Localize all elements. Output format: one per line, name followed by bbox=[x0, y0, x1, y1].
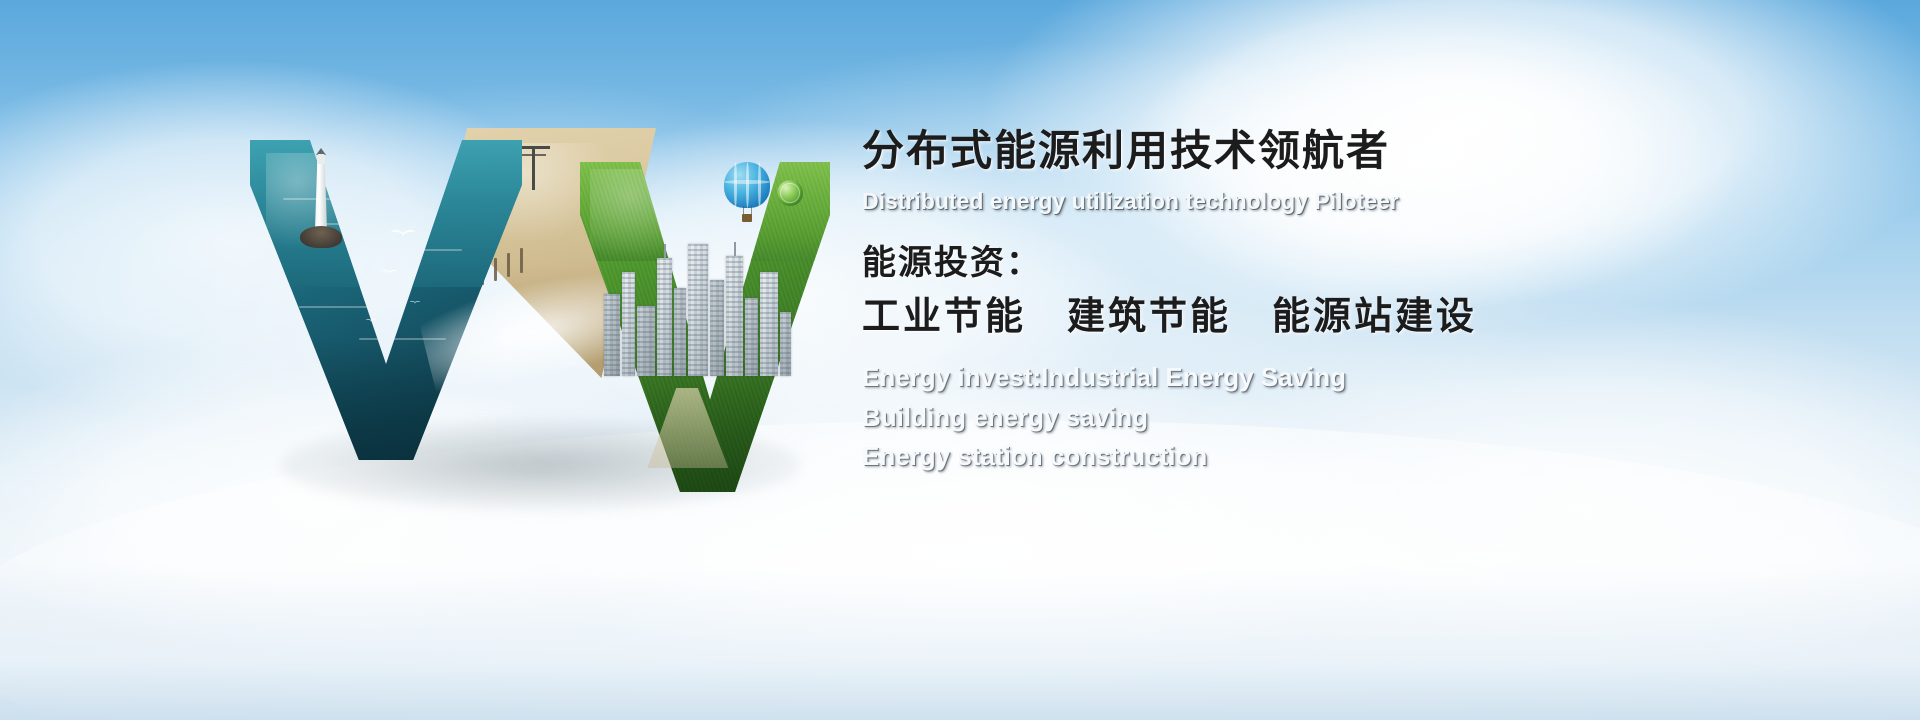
building bbox=[780, 312, 791, 376]
building-spire bbox=[664, 244, 666, 258]
dune-post-4 bbox=[507, 253, 510, 277]
headline-chinese: 分布式能源利用技术领航者 bbox=[862, 126, 1862, 176]
3d-w-letterform bbox=[250, 120, 830, 510]
building bbox=[674, 288, 686, 376]
balloon-basket bbox=[742, 214, 752, 222]
services-english-line-3: Energy station construction bbox=[862, 437, 1862, 477]
balloon-stripe bbox=[758, 162, 761, 208]
city-skyline bbox=[602, 226, 792, 376]
section-label-chinese: 能源投资： bbox=[862, 241, 1862, 287]
building bbox=[726, 256, 743, 376]
horizon-haze bbox=[0, 570, 1920, 720]
building bbox=[745, 298, 758, 376]
balloon-stripe bbox=[746, 162, 749, 208]
building bbox=[688, 244, 708, 376]
seagull-icon bbox=[390, 230, 416, 240]
seagull-icon bbox=[366, 319, 377, 323]
building bbox=[657, 258, 672, 376]
dune-post-3 bbox=[494, 258, 497, 281]
balloon-envelope bbox=[724, 162, 770, 208]
wave-line bbox=[299, 306, 370, 308]
services-chinese: 工业节能 建筑节能 能源站建设 bbox=[862, 293, 1862, 342]
balloon-stripe bbox=[734, 162, 737, 208]
seagull-icon bbox=[410, 301, 421, 305]
services-english-line-2: Building energy saving bbox=[862, 398, 1862, 438]
building bbox=[637, 306, 655, 376]
building-spire bbox=[734, 242, 736, 256]
lighthouse-tower bbox=[315, 164, 327, 230]
banner-copy: 分布式能源利用技术领航者 Distributed energy utilizat… bbox=[862, 126, 1862, 477]
utility-pole bbox=[532, 146, 535, 190]
utility-pole-crossarm bbox=[518, 146, 550, 149]
services-english-block: Energy invest:Industrial Energy Saving B… bbox=[862, 358, 1862, 477]
services-english-line-1: Energy invest:Industrial Energy Saving bbox=[862, 358, 1862, 398]
lighthouse-rock bbox=[300, 226, 342, 248]
hot-air-balloon-icon bbox=[724, 162, 770, 224]
hero-banner: 分布式能源利用技术领航者 Distributed energy utilizat… bbox=[0, 0, 1920, 720]
building bbox=[604, 294, 620, 376]
seagull-icon bbox=[381, 270, 397, 276]
building bbox=[760, 272, 778, 376]
lighthouse-icon bbox=[308, 148, 334, 244]
building bbox=[622, 272, 635, 376]
green-globe-icon bbox=[777, 180, 803, 206]
building bbox=[710, 280, 724, 376]
balloon-band bbox=[724, 180, 770, 184]
dune-post-5 bbox=[520, 248, 523, 273]
utility-pole-crossarm-lower bbox=[522, 154, 546, 156]
headline-english: Distributed energy utilization technolog… bbox=[862, 188, 1862, 216]
